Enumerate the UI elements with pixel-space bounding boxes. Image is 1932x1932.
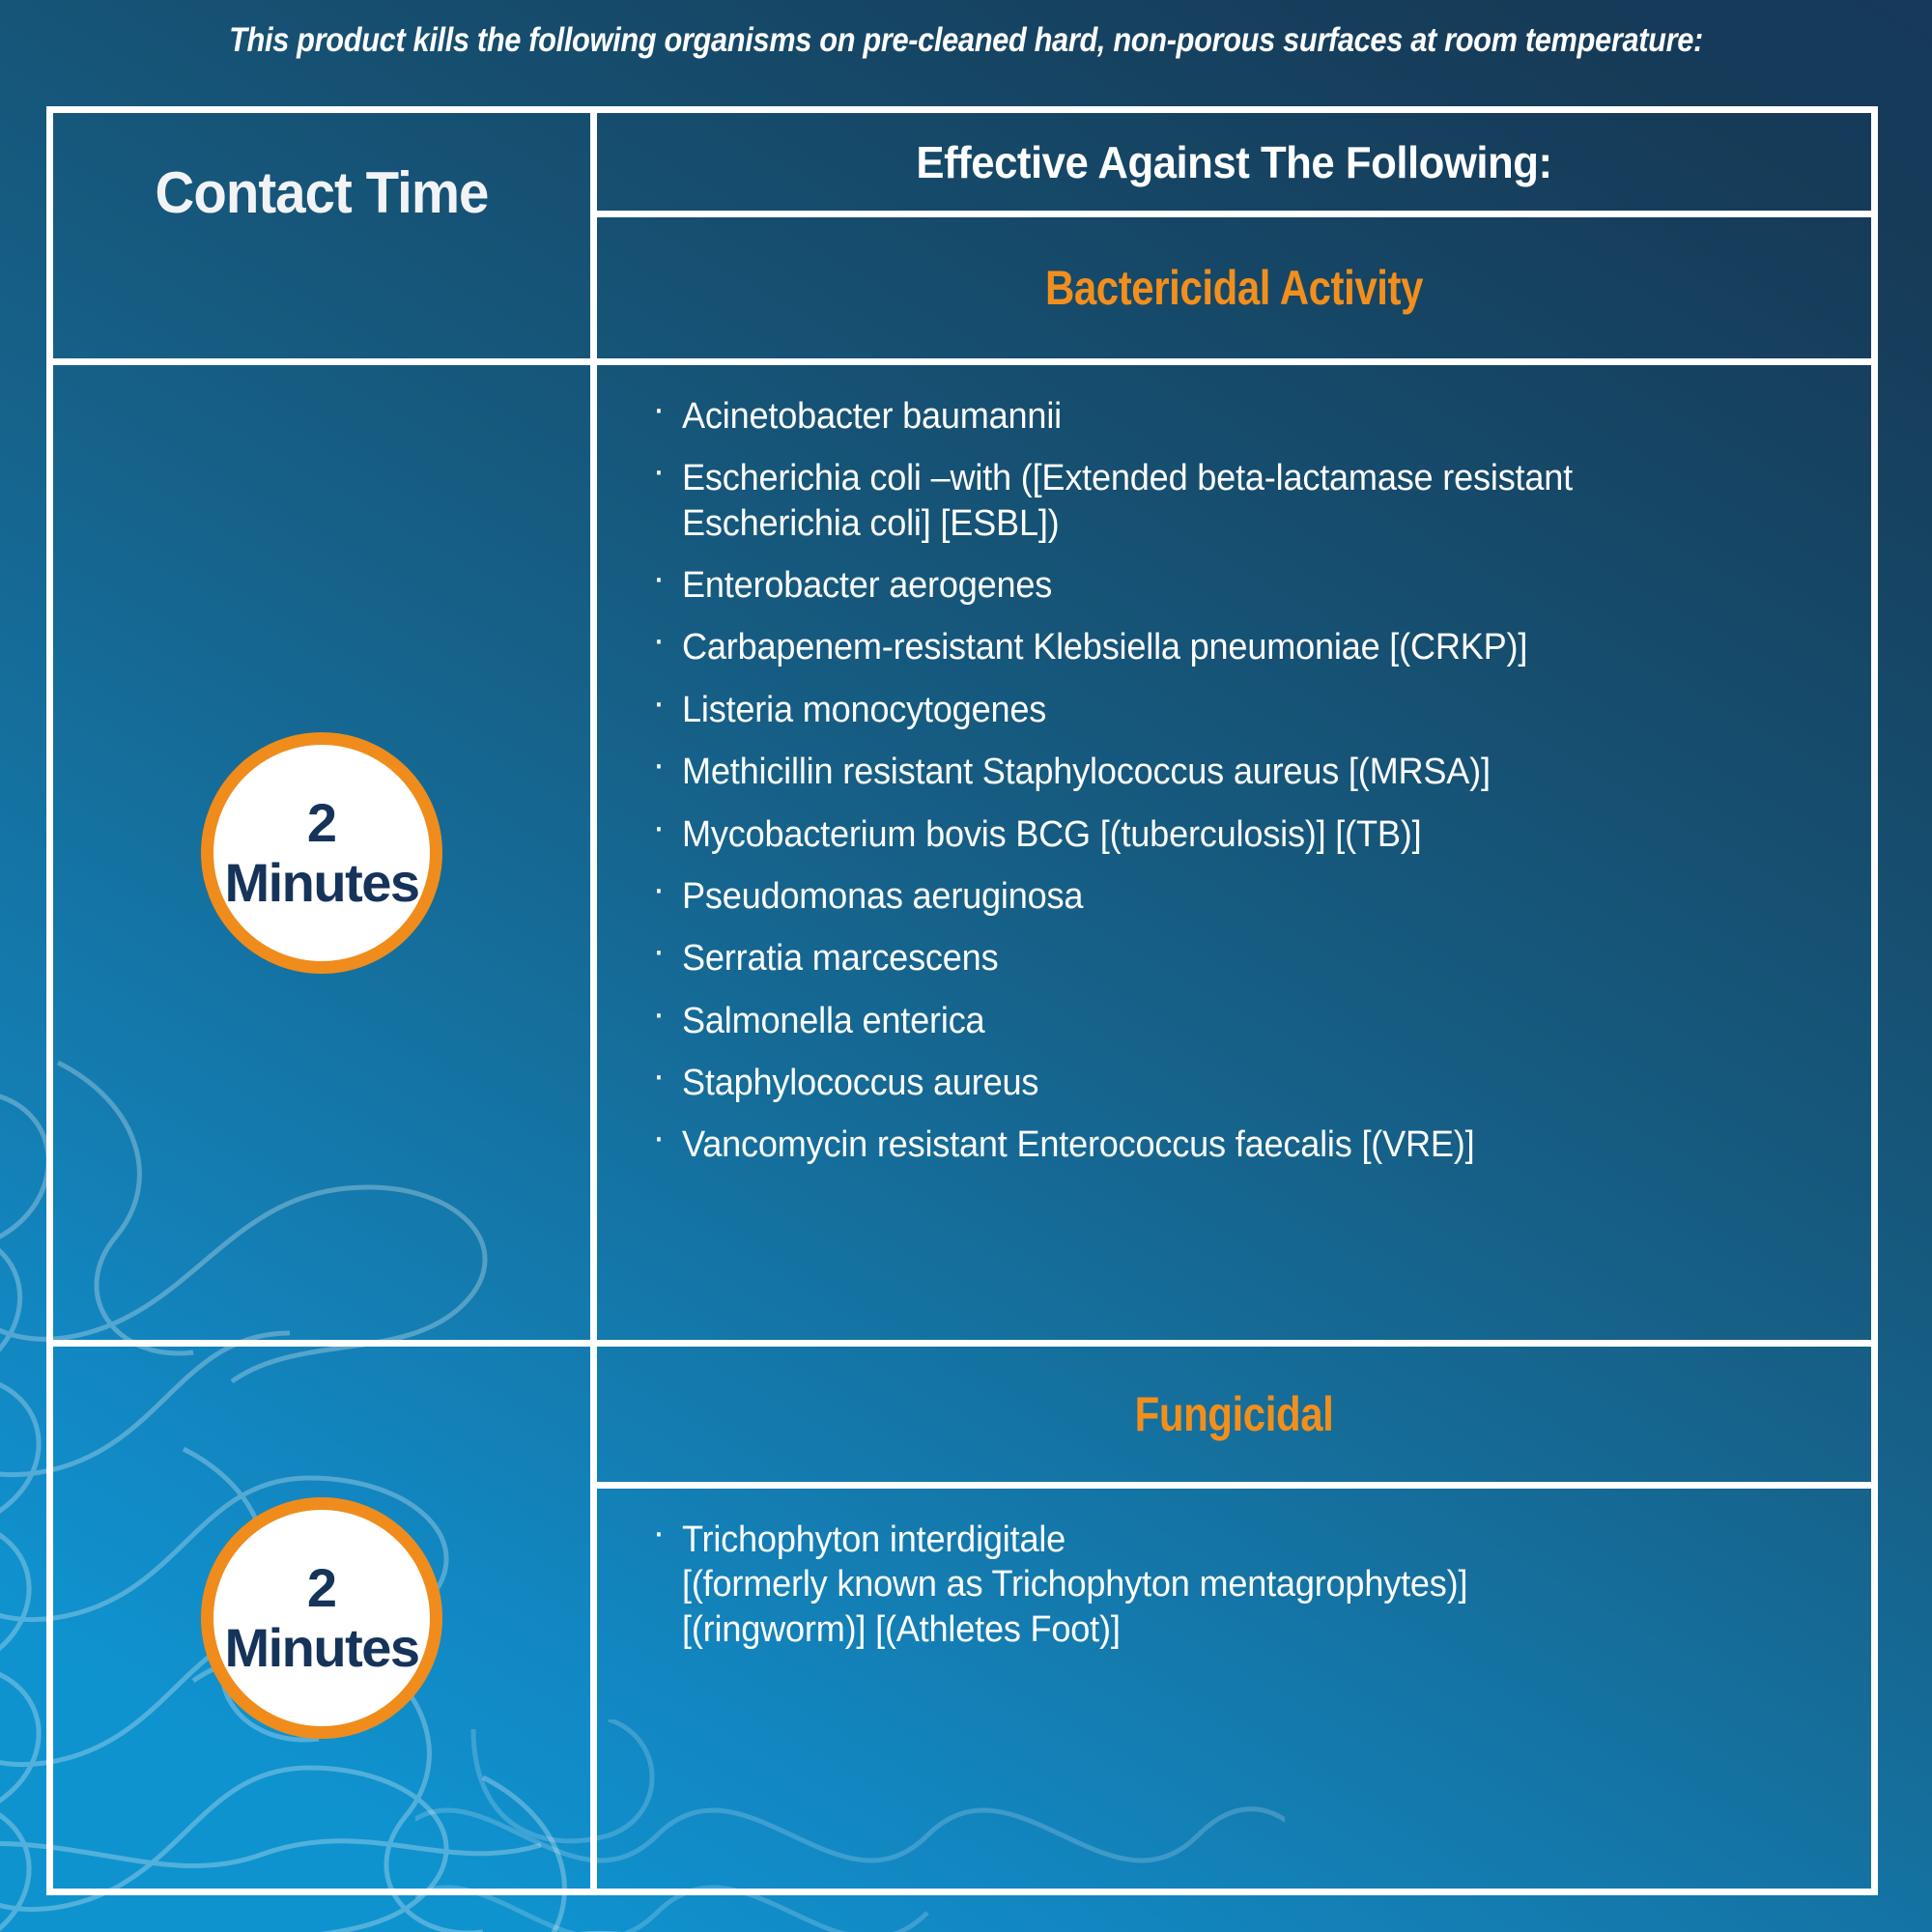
effective-against-label: Effective Against The Following: [629,113,1839,211]
organism-list-cell-bactericidal: Acinetobacter baumannii Escherichia coli… [597,365,1871,1340]
table-header-row: Contact Time Effective Against The Follo… [53,113,1871,358]
infographic-root: This product kills the following organis… [0,0,1932,1932]
body-vertical-divider-bactericidal [590,365,597,1340]
fungicidal-list-padding: Trichophyton interdigitale [(formerly kn… [597,1489,1871,1652]
list-item: Carbapenem-resistant Klebsiella pneumoni… [645,625,1782,669]
bactericidal-fungicidal-divider [53,1340,1871,1347]
list-item: Trichophyton interdigitale [(formerly kn… [645,1518,1782,1652]
section-title-bactericidal: Bactericidal Activity [699,217,1770,358]
header-body-divider [53,358,1871,365]
list-item: Serratia marcescens [645,936,1782,980]
list-item: Pseudomonas aeruginosa [645,874,1782,919]
organism-list-bactericidal: Acinetobacter baumannii Escherichia coli… [645,394,1842,1168]
header-cell-contact-time: Contact Time [53,113,590,358]
list-item: Acinetobacter baumannii [645,394,1782,439]
badge-number: 2 [307,1561,336,1615]
badge-unit: Minutes [224,1621,418,1675]
header-inner-divider [597,211,1871,217]
list-item: Escherichia coli –with ([Extended beta-l… [645,456,1782,546]
organism-list-fungicidal: Trichophyton interdigitale [(formerly kn… [645,1518,1842,1652]
table-row-fungicidal: 2 Minutes Fungicidal Trichophyton interd… [53,1347,1871,1889]
list-item: Methicillin resistant Staphylococcus aur… [645,750,1782,794]
badge-unit: Minutes [224,856,418,910]
list-item: Mycobacterium bovis BCG [(tuberculosis)]… [645,812,1782,857]
table-row-bactericidal: 2 Minutes Acinetobacter baumannii Escher… [53,365,1871,1340]
section-title-fungicidal: Fungicidal [1135,1386,1334,1442]
fungicidal-right-column: Fungicidal Trichophyton interdigitale [(… [597,1347,1871,1889]
badge-number: 2 [307,796,336,850]
contact-time-badge-fungicidal: 2 Minutes [201,1497,442,1739]
contact-time-badge-bactericidal: 2 Minutes [201,732,442,974]
badge-cell-fungicidal: 2 Minutes [53,1347,590,1889]
fungicidal-title-divider [597,1482,1871,1489]
list-item: Salmonella enterica [645,999,1782,1043]
list-item: Enterobacter aerogenes [645,563,1782,608]
list-item: Staphylococcus aureus [645,1061,1782,1105]
header-vertical-divider [590,113,597,358]
body-vertical-divider-fungicidal [590,1347,597,1889]
list-item: Vancomycin resistant Enterococcus faecal… [645,1122,1782,1167]
header-cell-effective: Effective Against The Following: Bacteri… [597,113,1871,358]
contact-time-label: Contact Time [70,159,575,226]
badge-cell-bactericidal: 2 Minutes [53,365,590,1340]
page-caption: This product kills the following organis… [116,21,1816,60]
organism-list-cell-fungicidal: Trichophyton interdigitale [(formerly kn… [597,1489,1871,1889]
efficacy-table: Contact Time Effective Against The Follo… [46,106,1878,1895]
section-title-wrap-fungicidal: Fungicidal [597,1347,1871,1482]
list-item: Listeria monocytogenes [645,688,1782,732]
